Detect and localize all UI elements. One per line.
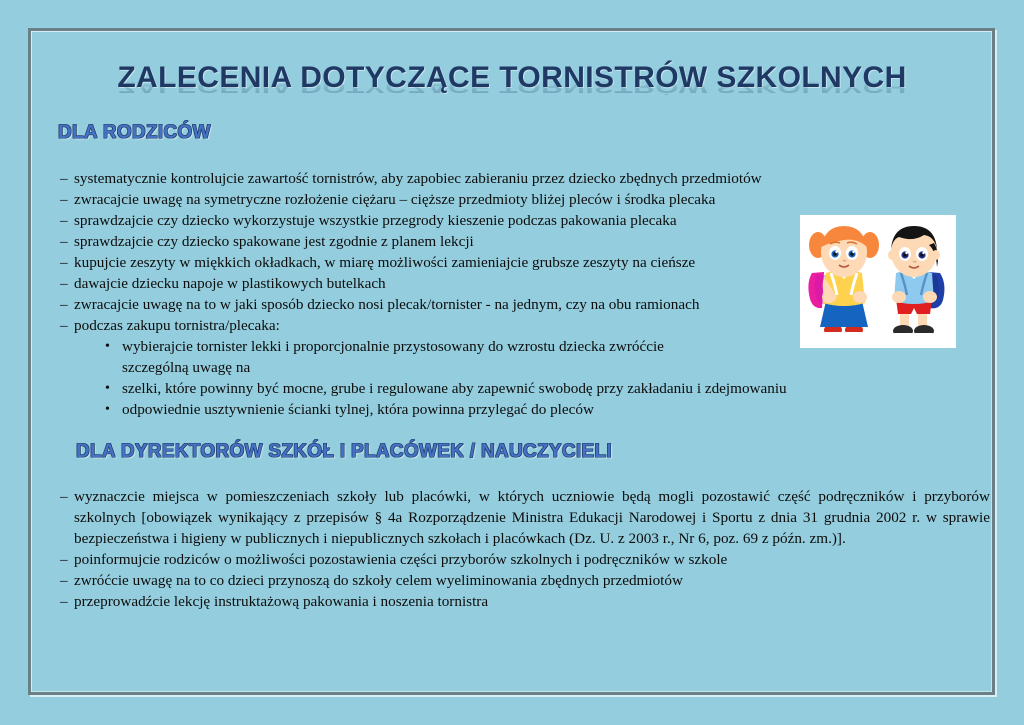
- dash-bullet-icon: –: [60, 570, 74, 591]
- round-bullet-icon: •: [105, 336, 122, 357]
- list-item-text: kupujcie zeszyty w miękkich okładkach, w…: [74, 252, 800, 273]
- list-item: – poinformujcie rodziców o możliwości po…: [60, 549, 990, 570]
- dash-bullet-icon: –: [60, 315, 74, 336]
- list-item: – przeprowadźcie lekcję instruktażową pa…: [60, 591, 990, 612]
- list-item: – sprawdzajcie czy dziecko spakowane jes…: [60, 231, 800, 252]
- list-item: – systematycznie kontrolujcie zawartość …: [60, 168, 800, 189]
- page-title-reflection: ZALECENIA DOTYCZĄCE TORNISTRÓW SZKOLNYCH: [0, 77, 1024, 94]
- section-heading-directors: DLA DYREKTORÓW SZKÓŁ I PLACÓWEK / NAUCZY…: [76, 441, 612, 463]
- purchase-sub-list: • wybierajcie tornister lekki i proporcj…: [105, 336, 800, 420]
- sub-list-item: • odpowiednie usztywnienie ścianki tylne…: [105, 399, 800, 420]
- slide-canvas: ZALECENIA DOTYCZĄCE TORNISTRÓW SZKOLNYCH…: [0, 0, 1024, 725]
- list-item-text: zwróćcie uwagę na to co dzieci przynoszą…: [74, 570, 990, 591]
- directors-recommendation-list: – wyznaczcie miejsca w pomieszczeniach s…: [60, 486, 990, 612]
- dash-bullet-icon: –: [60, 252, 74, 273]
- list-item: – podczas zakupu tornistra/plecaka:: [60, 315, 800, 336]
- round-bullet-icon: •: [105, 378, 122, 399]
- dash-bullet-icon: –: [60, 168, 74, 189]
- dash-bullet-icon: –: [60, 486, 74, 507]
- sub-list-item-text: wybierajcie tornister lekki i proporcjon…: [122, 336, 667, 378]
- list-item: – zwróćcie uwagę na to co dzieci przynos…: [60, 570, 990, 591]
- list-item-text: dawajcie dziecku napoje w plastikowych b…: [74, 273, 800, 294]
- sub-list-item: • wybierajcie tornister lekki i proporcj…: [105, 336, 800, 378]
- list-item-text: systematycznie kontrolujcie zawartość to…: [74, 168, 800, 189]
- sub-list-item-text: szelki, które powinny być mocne, grube i…: [122, 378, 800, 399]
- title-block: ZALECENIA DOTYCZĄCE TORNISTRÓW SZKOLNYCH…: [0, 62, 1024, 126]
- list-item: – zwracajcie uwagę na symetryczne rozłoż…: [60, 189, 800, 210]
- round-bullet-icon: •: [105, 399, 122, 420]
- dash-bullet-icon: –: [60, 189, 74, 210]
- section-heading-parents: DLA RODZICÓW: [58, 122, 211, 144]
- list-item: – kupujcie zeszyty w miękkich okładkach,…: [60, 252, 800, 273]
- dash-bullet-icon: –: [60, 210, 74, 231]
- list-item-text: podczas zakupu tornistra/plecaka:: [74, 315, 800, 336]
- list-item-text: wyznaczcie miejsca w pomieszczeniach szk…: [74, 486, 990, 549]
- dash-bullet-icon: –: [60, 591, 74, 612]
- list-item-text: sprawdzajcie czy dziecko spakowane jest …: [74, 231, 800, 252]
- sub-list-item: • szelki, które powinny być mocne, grube…: [105, 378, 800, 399]
- dash-bullet-icon: –: [60, 231, 74, 252]
- list-item-text: poinformujcie rodziców o możliwości pozo…: [74, 549, 990, 570]
- list-item: – zwracajcie uwagę na to w jaki sposób d…: [60, 294, 800, 315]
- dash-bullet-icon: –: [60, 549, 74, 570]
- two-children-with-backpacks-image: [800, 215, 956, 348]
- list-item-text: sprawdzajcie czy dziecko wykorzystuje ws…: [74, 210, 800, 231]
- parents-recommendation-list: – systematycznie kontrolujcie zawartość …: [60, 168, 800, 420]
- dash-bullet-icon: –: [60, 294, 74, 315]
- sub-list-item-text: odpowiednie usztywnienie ścianki tylnej,…: [122, 399, 800, 420]
- list-item: – dawajcie dziecku napoje w plastikowych…: [60, 273, 800, 294]
- list-item: – wyznaczcie miejsca w pomieszczeniach s…: [60, 486, 990, 549]
- dash-bullet-icon: –: [60, 273, 74, 294]
- list-item: – sprawdzajcie czy dziecko wykorzystuje …: [60, 210, 800, 231]
- list-item-text: zwracajcie uwagę na symetryczne rozłożen…: [74, 189, 800, 210]
- list-item-text: zwracajcie uwagę na to w jaki sposób dzi…: [74, 294, 800, 315]
- list-item-text: przeprowadźcie lekcję instruktażową pako…: [74, 591, 990, 612]
